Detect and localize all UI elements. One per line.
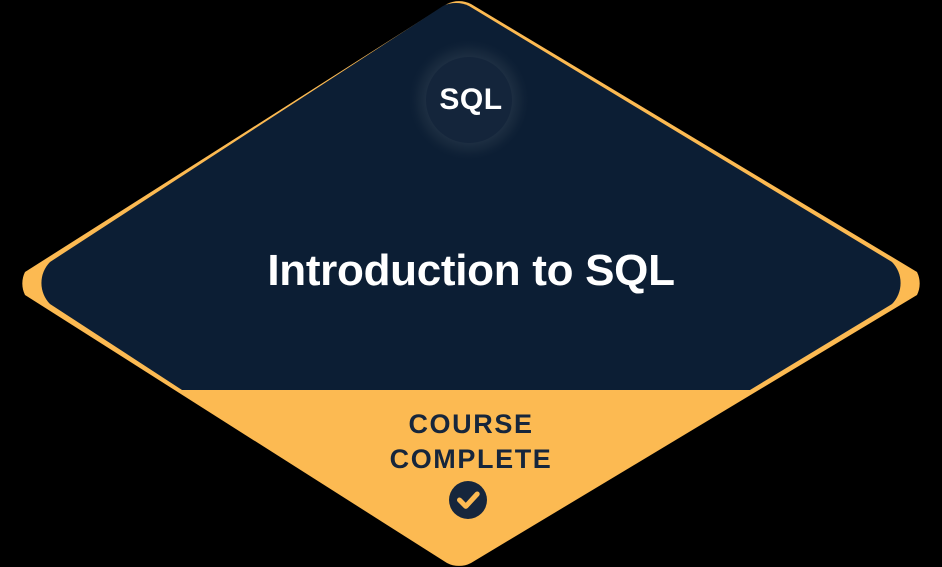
certificate-badge-canvas: SQL Introduction to SQL COURSE COMPLETE bbox=[0, 0, 942, 567]
check-circle-icon bbox=[449, 481, 487, 519]
course-title: Introduction to SQL bbox=[0, 245, 942, 297]
status-label-line-2: COMPLETE bbox=[0, 444, 942, 475]
status-label-line-1: COURSE bbox=[0, 409, 942, 440]
sql-chip-label: SQL bbox=[0, 82, 942, 118]
